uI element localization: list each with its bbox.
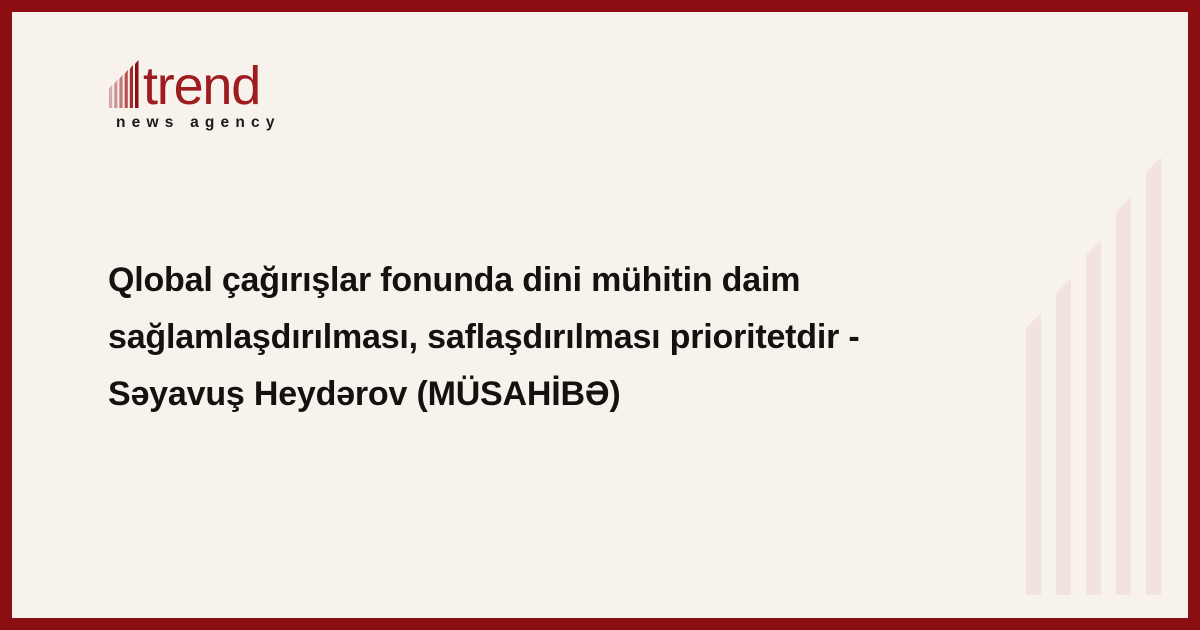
share-card: trend news agency Qlobal çağırışlar fonu… [0, 0, 1200, 630]
article-headline: Qlobal çağırışlar fonunda dini mühitin d… [108, 252, 998, 423]
logo-row: trend [108, 56, 408, 108]
site-logo[interactable]: trend news agency [108, 56, 408, 132]
ascending-bars-watermark [1018, 150, 1170, 595]
ascending-bars-mark-icon [108, 60, 142, 108]
logo-tagline: news agency [116, 114, 408, 132]
logo-wordmark: trend [143, 62, 260, 110]
